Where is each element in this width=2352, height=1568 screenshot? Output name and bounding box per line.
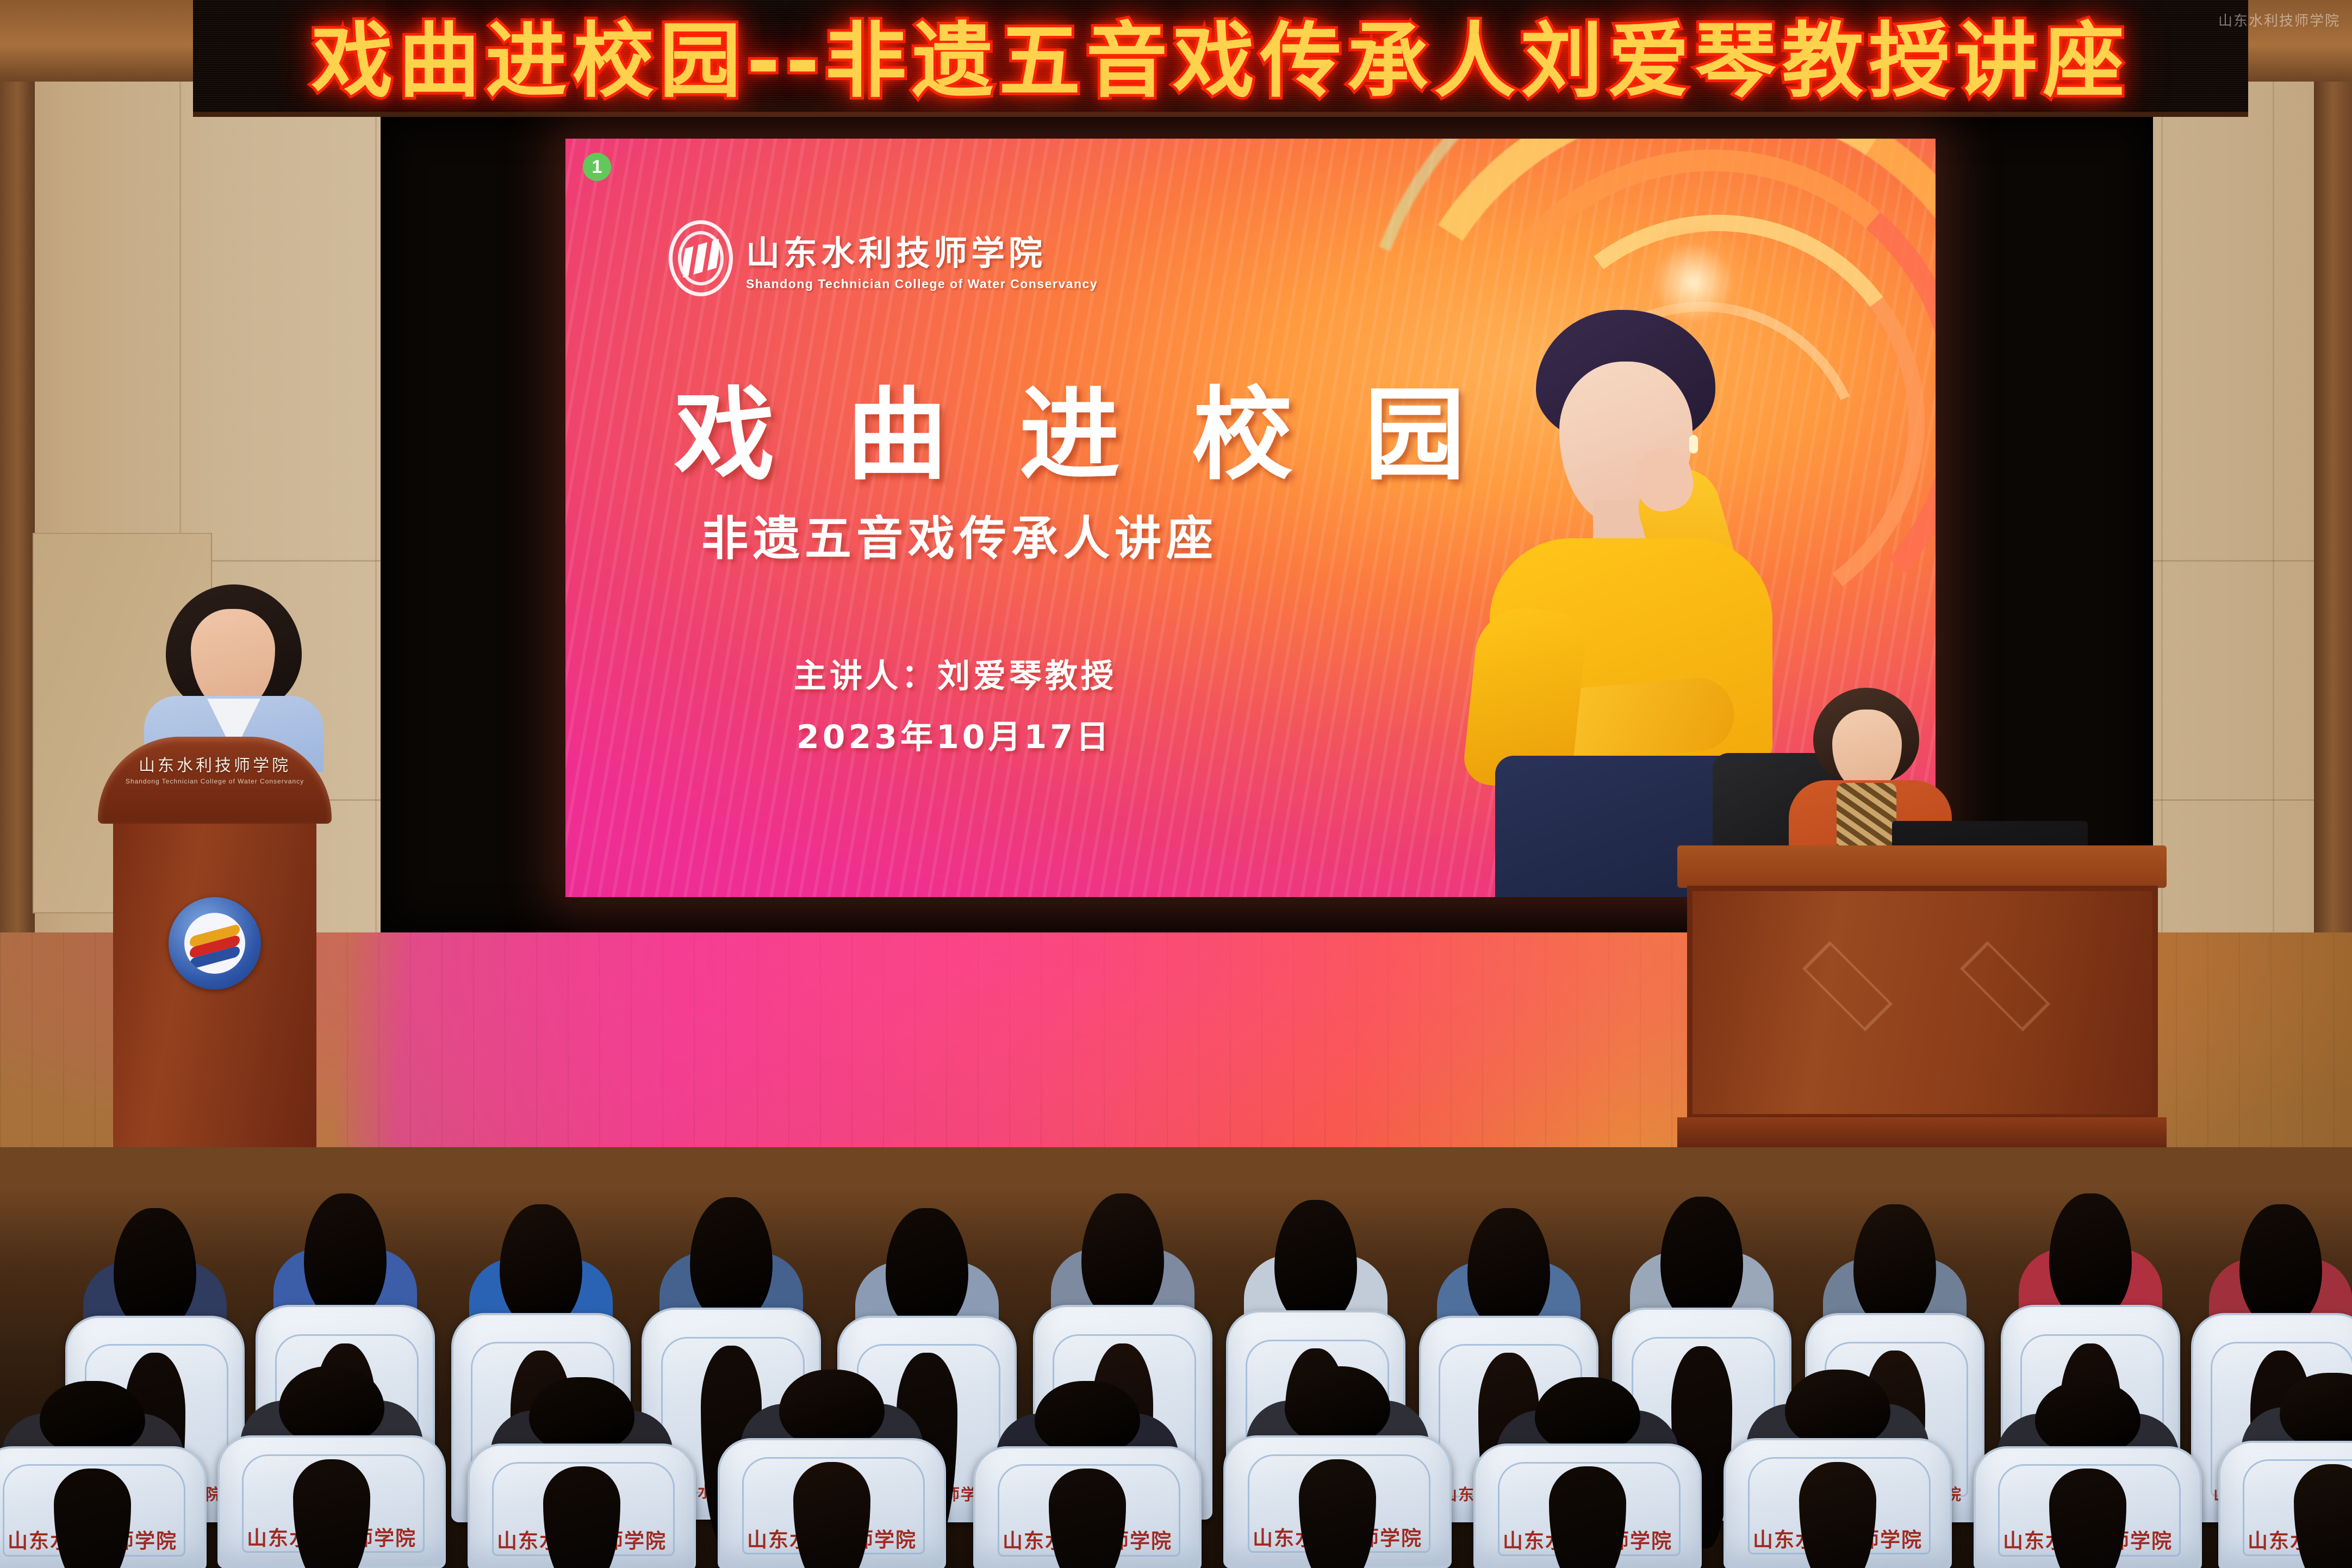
head-table-front-panel — [1687, 886, 2158, 1119]
audience-head — [886, 1208, 968, 1328]
slide-speaker-line: 主讲人：刘爱琴教授 — [794, 650, 1117, 697]
audience-seating: 山东水利技师学院山东水利技师学院山东水利技师学院山东水利技师学院山东水利技师学院… — [0, 1147, 2352, 1568]
audience-head — [1081, 1193, 1164, 1318]
head-table-top — [1677, 845, 2167, 888]
audience-head — [1785, 1370, 1890, 1446]
table-diamond-inlay — [1960, 941, 2050, 1031]
slide-school-logo: 山东水利技师学院 Shandong Technician College of … — [669, 220, 1098, 296]
slide-subtitle: 非遗五音戏传承人讲座 — [701, 500, 1218, 568]
audience-ponytail — [1799, 1462, 1877, 1568]
school-emblem-icon — [669, 220, 733, 296]
audience-head — [779, 1370, 884, 1446]
slide-title: 戏 曲 进 校 园 — [674, 353, 1484, 499]
audience-ponytail — [1299, 1459, 1377, 1568]
lectern[interactable]: 山东水利技师学院 Shandong Technician College of … — [98, 737, 332, 1193]
audience-head — [2239, 1204, 2322, 1326]
audience-ponytail — [1549, 1466, 1627, 1568]
audience-ponytail — [293, 1459, 371, 1568]
lectern-school-name-cn: 山东水利技师学院 — [139, 752, 291, 776]
audience-ponytail — [54, 1469, 132, 1568]
audience-ponytail — [793, 1462, 871, 1568]
audience-head — [1467, 1208, 1550, 1328]
lectern-school-name-en: Shandong Technician College of Water Con… — [126, 777, 304, 785]
audience-ponytail — [1049, 1469, 1127, 1568]
audience-head — [1274, 1200, 1357, 1323]
audience-head — [1853, 1204, 1936, 1326]
audience-head — [1285, 1366, 1390, 1443]
wave-glyph-icon — [683, 239, 719, 278]
audience-head — [2035, 1381, 2140, 1453]
lecture-hall-photo: 戏曲进校园--非遗五音戏传承人刘爱琴教授讲座 山东水利技师学院 1 山东水利技师… — [0, 0, 2352, 1568]
audience-head — [40, 1381, 145, 1453]
lectern-emblem-icon — [169, 897, 261, 990]
audience-head — [279, 1366, 384, 1443]
audience-head — [304, 1193, 387, 1318]
audience-head — [1660, 1197, 1743, 1320]
slide-date-line: 2023年10月17日 — [797, 711, 1112, 758]
audience-head — [114, 1208, 196, 1328]
audience-ponytail — [2049, 1469, 2127, 1568]
lectern-header: 山东水利技师学院 Shandong Technician College of … — [98, 737, 332, 824]
audience-head — [690, 1197, 773, 1320]
led-banner: 戏曲进校园--非遗五音戏传承人刘爱琴教授讲座 — [193, 0, 2248, 117]
led-banner-text: 戏曲进校园--非遗五音戏传承人刘爱琴教授讲座 — [312, 0, 2130, 113]
emblem-inner-disc — [184, 913, 245, 974]
audience-ponytail — [543, 1466, 621, 1568]
portrait-earring — [1689, 435, 1698, 453]
audience-head — [2049, 1193, 2132, 1318]
slide-logo-cn: 山东水利技师学院 — [746, 226, 1098, 275]
audience-ponytail — [2294, 1464, 2352, 1568]
audience-head — [1535, 1377, 1640, 1451]
photo-watermark: 山东水利技师学院 — [2218, 10, 2340, 30]
slide-number-badge: 1 — [583, 153, 611, 181]
audience-head — [500, 1204, 582, 1326]
table-diamond-inlay — [1802, 941, 1893, 1031]
audience-head — [529, 1377, 634, 1451]
audience-head — [1035, 1381, 1140, 1453]
podium-speaker — [144, 584, 323, 748]
slide-logo-en: Shandong Technician College of Water Con… — [746, 277, 1098, 291]
speaker-face — [191, 609, 275, 710]
